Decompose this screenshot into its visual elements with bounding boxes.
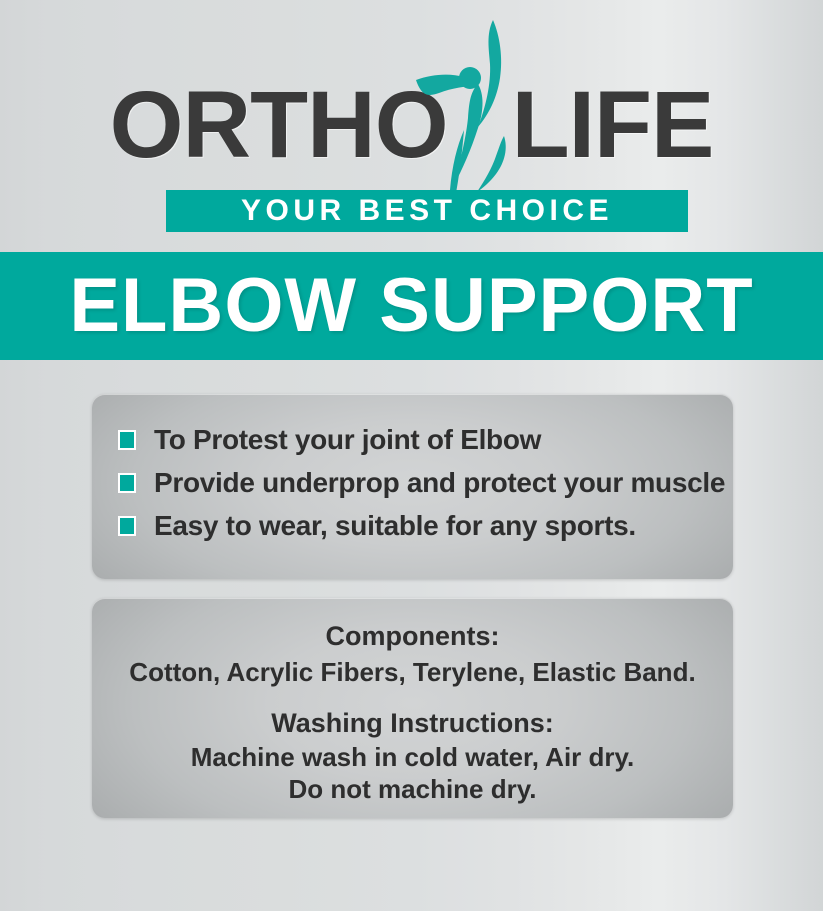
care-instructions-panel: Components: Cotton, Acrylic Fibers, Tery… (92, 598, 733, 818)
washing-instructions-heading: Washing Instructions: (106, 705, 719, 742)
feature-item: Provide underprop and protect your muscl… (118, 461, 719, 504)
teal-square-bullet-icon (118, 473, 136, 493)
teal-square-bullet-icon (118, 516, 136, 536)
teal-square-bullet-icon (118, 430, 136, 450)
feature-text: Easy to wear, suitable for any sports. (154, 510, 636, 542)
brand-name-life: LIFE (512, 72, 714, 178)
washing-instructions-line-1: Machine wash in cold water, Air dry. (106, 742, 719, 774)
components-heading: Components: (106, 618, 719, 655)
components-value: Cotton, Acrylic Fibers, Terylene, Elasti… (106, 655, 719, 690)
washing-instructions-line-2: Do not machine dry. (106, 774, 719, 806)
feature-list: To Protest your joint of Elbow Provide u… (118, 418, 719, 547)
feature-item: Easy to wear, suitable for any sports. (118, 504, 719, 547)
feature-item: To Protest your joint of Elbow (118, 418, 719, 461)
brand-name-ortho: ORTHO (110, 72, 448, 178)
feature-text: Provide underprop and protect your muscl… (154, 467, 725, 499)
brand-tagline-bar: YOUR BEST CHOICE (166, 190, 688, 232)
product-label: ORTHOLIFE YOUR BEST CHOICE ELB (0, 0, 823, 911)
feature-text: To Protest your joint of Elbow (154, 424, 541, 456)
product-title: ELBOW SUPPORT (0, 252, 823, 360)
product-title-banner: ELBOW SUPPORT (0, 252, 823, 360)
features-panel: To Protest your joint of Elbow Provide u… (92, 394, 733, 579)
brand-header: ORTHOLIFE YOUR BEST CHOICE (0, 0, 823, 250)
brand-tagline-text: YOUR BEST CHOICE (166, 190, 688, 232)
care-instructions-block: Components: Cotton, Acrylic Fibers, Tery… (106, 618, 719, 805)
care-spacer (106, 691, 719, 705)
